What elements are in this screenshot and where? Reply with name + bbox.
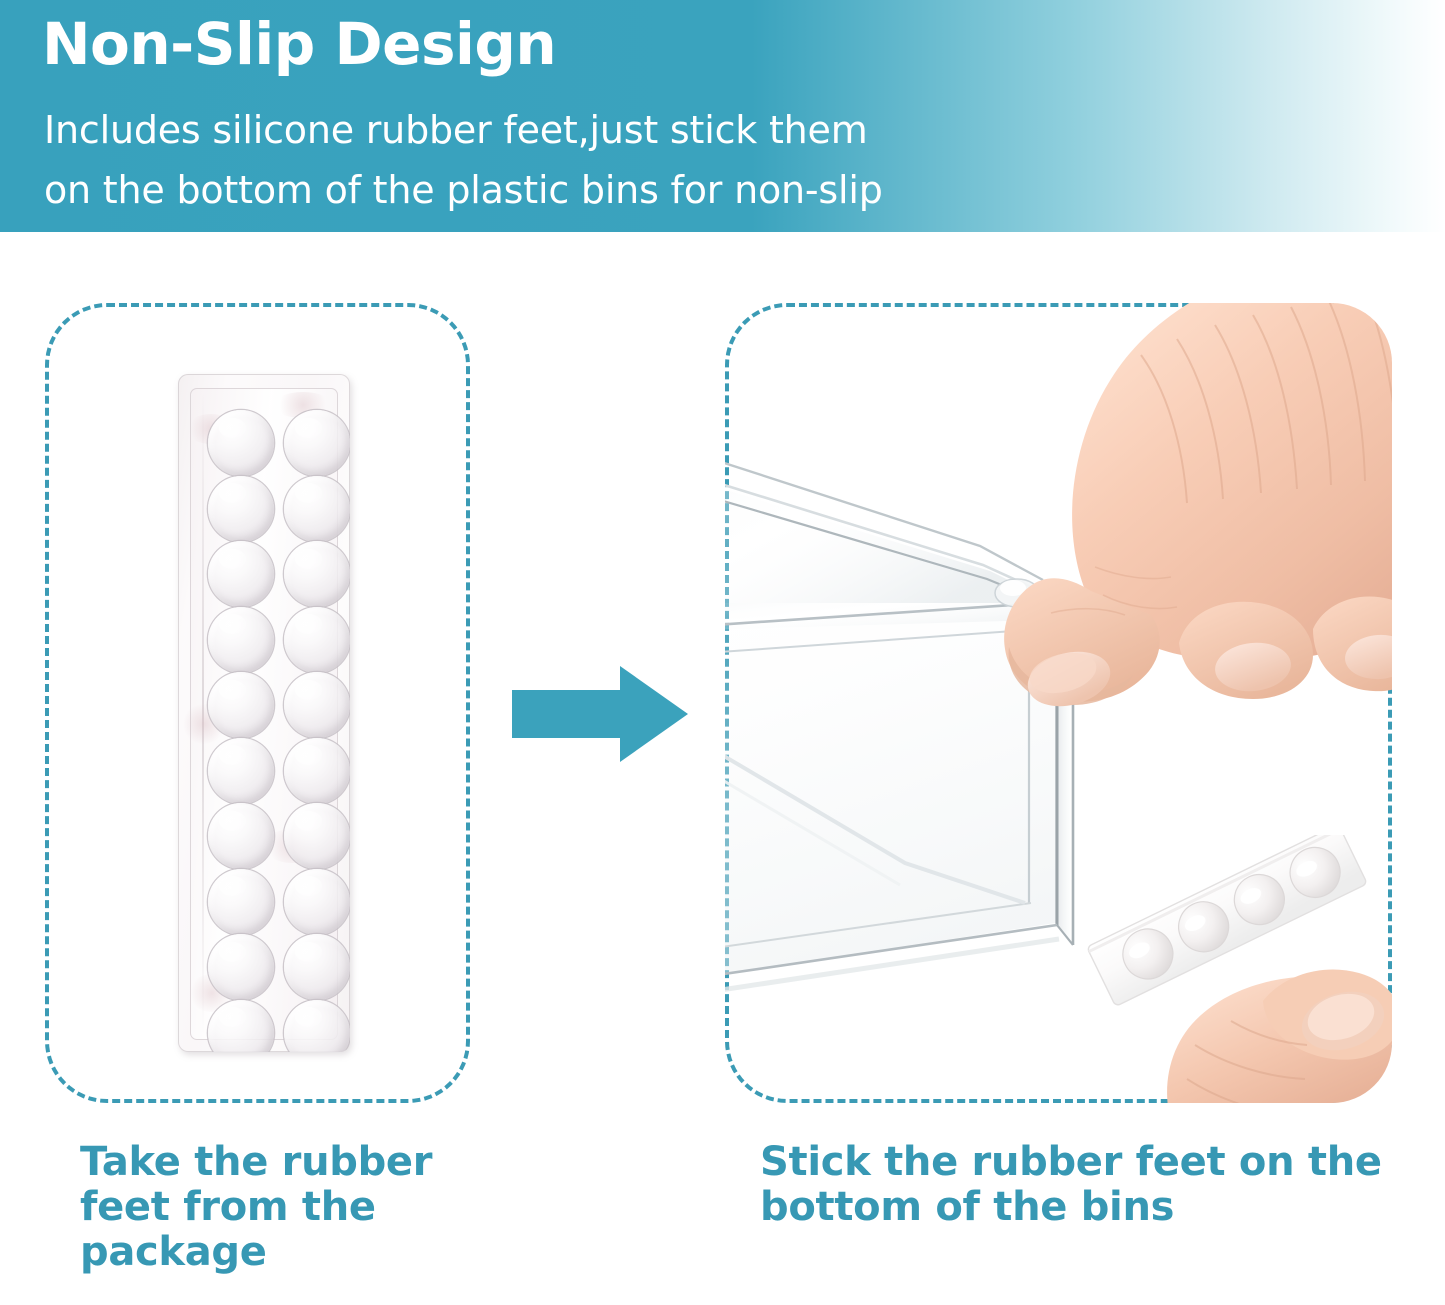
infographic-page: Non-Slip Design Includes silicone rubber… bbox=[0, 0, 1445, 1305]
rubber-foot bbox=[208, 541, 274, 607]
rubber-foot bbox=[284, 738, 350, 804]
page-title: Non-Slip Design bbox=[42, 14, 556, 75]
header-banner: Non-Slip Design Includes silicone rubber… bbox=[0, 0, 1445, 232]
right-panel-caption: Stick the rubber feet on the bottom of t… bbox=[760, 1140, 1400, 1230]
header-subtitle-line-2: on the bottom of the plastic bins for no… bbox=[44, 168, 883, 212]
hand-holding-strip bbox=[1055, 835, 1392, 1103]
rubber-foot bbox=[208, 476, 274, 542]
rubber-foot bbox=[208, 869, 274, 935]
rubber-foot bbox=[284, 672, 350, 738]
rubber-feet-package bbox=[178, 374, 350, 1052]
rubber-foot bbox=[208, 607, 274, 673]
rubber-foot bbox=[284, 476, 350, 542]
rubber-foot bbox=[208, 803, 274, 869]
rubber-foot bbox=[284, 803, 350, 869]
left-panel-caption: Take the rubber feet from the package bbox=[80, 1140, 500, 1274]
rubber-foot bbox=[208, 410, 274, 476]
rubber-foot bbox=[208, 934, 274, 1000]
process-arrow bbox=[512, 666, 688, 762]
hand-pressing-foot bbox=[991, 303, 1392, 855]
header-subtitle-line-1: Includes silicone rubber feet,just stick… bbox=[44, 108, 868, 152]
rubber-foot bbox=[284, 410, 350, 476]
rubber-foot bbox=[208, 738, 274, 804]
rubber-foot bbox=[284, 607, 350, 673]
apply-feet-scene bbox=[725, 303, 1392, 1103]
rubber-foot bbox=[284, 869, 350, 935]
rubber-foot bbox=[208, 672, 274, 738]
rubber-foot bbox=[284, 541, 350, 607]
rubber-foot bbox=[284, 934, 350, 1000]
